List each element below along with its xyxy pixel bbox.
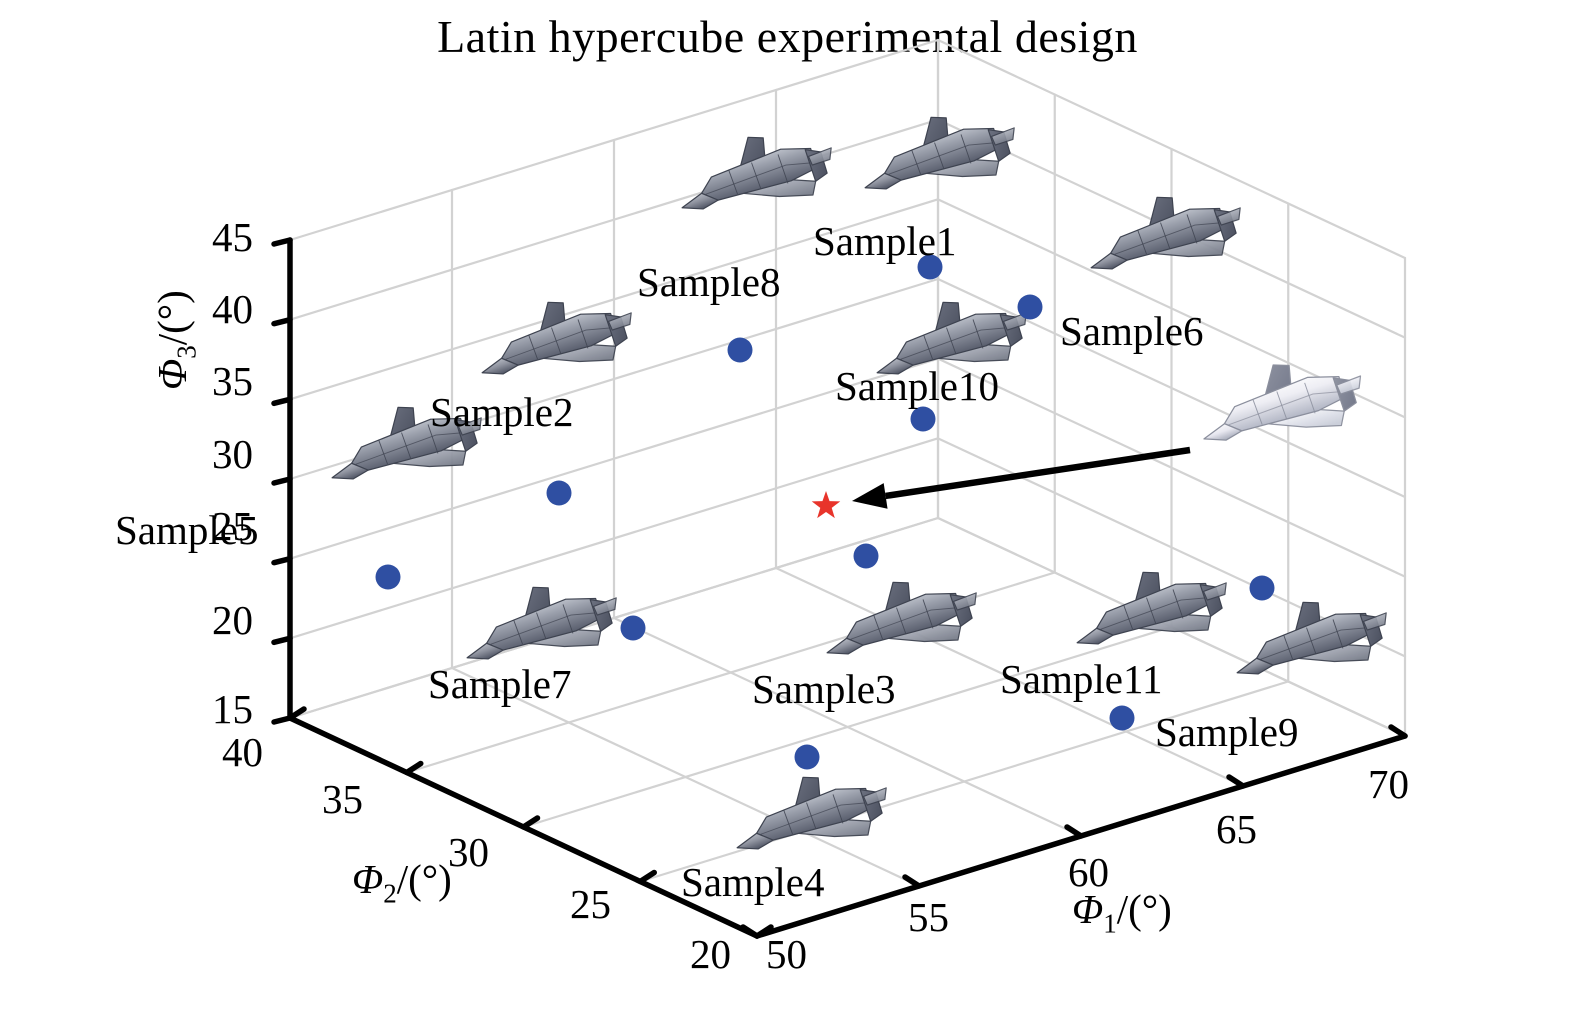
x-tick-55: 55 [908, 893, 949, 941]
z-tick-35: 35 [212, 357, 253, 405]
marker-dot-sample2[interactable] [547, 481, 572, 506]
craft-sample4-icon [726, 761, 895, 862]
sample-label-sample11: Sample11 [1000, 655, 1162, 703]
craft-sample7-icon [456, 571, 625, 672]
z-tick-40: 40 [212, 285, 253, 333]
sample-label-sample10: Sample10 [835, 362, 999, 410]
craft-sample11-icon [1066, 556, 1235, 657]
x-axis-label: Φ1/(°) [1072, 885, 1172, 939]
marker-dot-sample6[interactable] [1018, 295, 1043, 320]
y-tick-30: 30 [448, 828, 489, 876]
craft-sample8-a-icon [671, 121, 840, 222]
y-axis-label: Φ2/(°) [352, 855, 452, 909]
z-axis-label: Φ3/(°) [148, 290, 202, 390]
craft-sample6-icon [1080, 181, 1249, 282]
craft-sample3-icon [816, 566, 985, 667]
x-tick-50: 50 [766, 930, 807, 978]
sample-label-sample5: Sample5 [115, 506, 258, 554]
sample-label-sample2: Sample2 [430, 388, 573, 436]
sample-label-sample1: Sample1 [813, 217, 956, 265]
marker-dot-sample7[interactable] [621, 616, 646, 641]
y-tick-40: 40 [222, 728, 263, 776]
sample-label-sample4: Sample4 [681, 858, 824, 906]
z-tick-30: 30 [212, 430, 253, 478]
y-tick-25: 25 [570, 880, 611, 928]
marker-dot-sample10[interactable] [911, 407, 936, 432]
sample-label-sample3: Sample3 [752, 665, 895, 713]
y-tick-20: 20 [690, 930, 731, 978]
y-tick-35: 35 [322, 775, 363, 823]
craft-sample9-icon [1226, 586, 1395, 687]
sample-label-sample8: Sample8 [637, 258, 780, 306]
sample-label-sample6: Sample6 [1060, 307, 1203, 355]
marker-dot-sample9[interactable] [1250, 576, 1275, 601]
marker-dot-sample11[interactable] [1110, 706, 1135, 731]
annotation-arrow-shaft [886, 450, 1190, 496]
annotation-arrow-head [852, 483, 888, 509]
z-tick-15: 15 [212, 685, 253, 733]
z-tick-20: 20 [212, 596, 253, 644]
sample-label-sample9: Sample9 [1155, 708, 1298, 756]
marker-dot-sample5[interactable] [376, 565, 401, 590]
x-tick-65: 65 [1216, 805, 1257, 853]
x-tick-70: 70 [1368, 760, 1409, 808]
marker-dot-sample8[interactable] [728, 338, 753, 363]
sample-label-sample7: Sample7 [428, 660, 571, 708]
figure-root: Latin hypercube experimental design [0, 0, 1575, 1022]
marker-star-selected[interactable] [812, 491, 841, 518]
marker-dot-sample3[interactable] [795, 745, 820, 770]
marker-dot-sample4[interactable] [854, 544, 879, 569]
z-tick-45: 45 [212, 213, 253, 261]
annotation-arrow [852, 450, 1190, 509]
